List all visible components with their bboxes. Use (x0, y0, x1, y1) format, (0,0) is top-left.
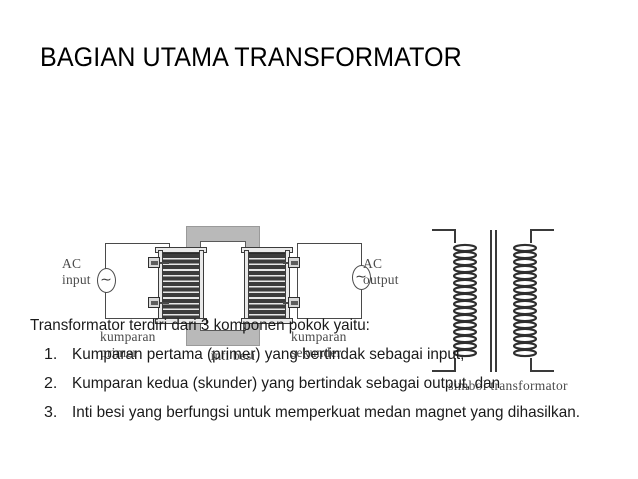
transformer-construction-diagram: ∼ AC input ∼ AC output (0, 100, 638, 305)
slide-body: Transformator terdiri dari 3 komponen po… (30, 315, 610, 430)
slide-canvas: BAGIAN UTAMA TRANSFORMATOR ∼ AC input ∼ … (0, 0, 638, 479)
symbol-lead (530, 229, 554, 231)
page-title: BAGIAN UTAMA TRANSFORMATOR (40, 40, 561, 74)
body-intro: Transformator terdiri dari 3 komponen po… (30, 315, 581, 337)
symbol-lead (432, 229, 456, 231)
terminal-icon (288, 257, 300, 268)
terminal-icon (148, 257, 160, 268)
ac-input-label-line1: AC (62, 256, 81, 271)
list-item: 2. Kumparan kedua (skunder) yang bertind… (30, 372, 610, 395)
winding-turns (249, 253, 285, 319)
terminal-icon (288, 297, 300, 308)
ac-input-label: AC input (62, 256, 106, 288)
winding-endplate-right (199, 250, 204, 321)
symbol-lead (530, 229, 532, 243)
primary-lead-bottom (160, 302, 169, 304)
component-list: 1. Kumparan pertama (primer) yang bertin… (30, 343, 610, 424)
ac-output-label-line2: output (363, 272, 399, 287)
terminal-icon (148, 297, 160, 308)
primary-winding (158, 250, 204, 321)
ac-input-label-line2: input (62, 272, 91, 287)
primary-lead-top (160, 262, 169, 264)
list-item-label: Kumparan kedua (skunder) yang bertindak … (72, 372, 586, 395)
list-item-label: Kumparan pertama (primer) yang bertindak… (72, 343, 586, 366)
ac-output-label-line1: AC (363, 256, 382, 271)
list-item-number: 3. (44, 401, 68, 424)
ac-output-label: AC output (363, 256, 423, 288)
list-item: 1. Kumparan pertama (primer) yang bertin… (30, 343, 610, 366)
symbol-lead (454, 229, 456, 243)
list-item-label: Inti besi yang berfungsi untuk memperkua… (72, 401, 586, 424)
list-item-number: 2. (44, 372, 68, 395)
list-item-number: 1. (44, 343, 68, 366)
list-item: 3. Inti besi yang berfungsi untuk memper… (30, 401, 610, 424)
secondary-winding (244, 250, 290, 321)
